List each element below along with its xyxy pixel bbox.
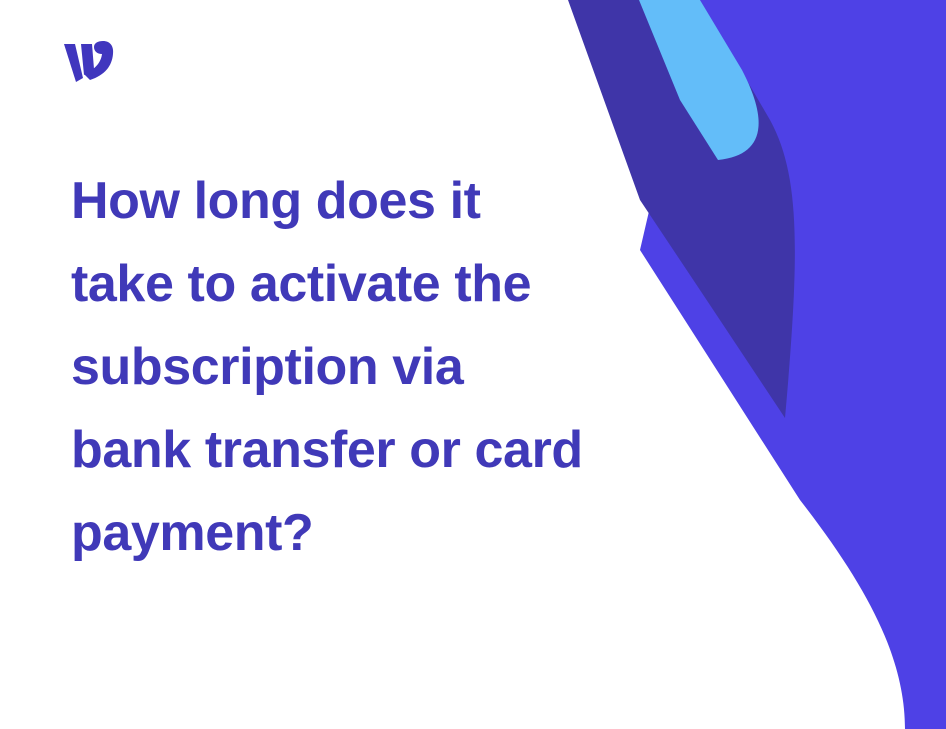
wise-w-logo-icon [62, 36, 120, 84]
light-blue-wedge [639, 0, 759, 160]
faq-card: How long does it take to activate the su… [0, 0, 946, 729]
page-title: How long does it take to activate the su… [71, 160, 701, 575]
